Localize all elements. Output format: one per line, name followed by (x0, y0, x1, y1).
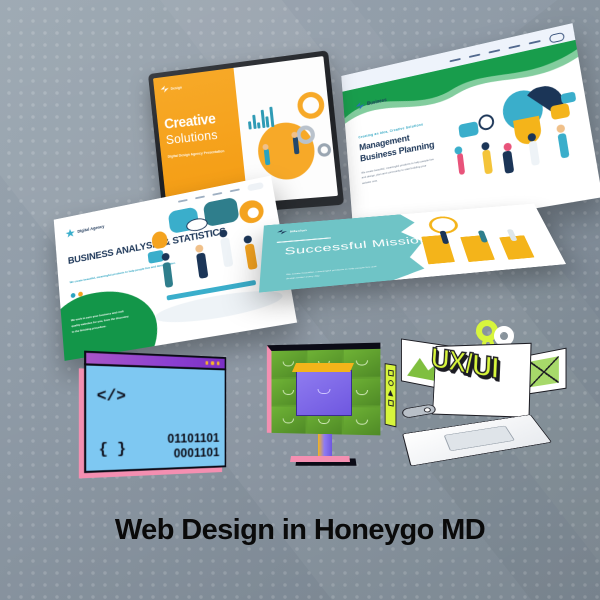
monitor-logo-label: Design (171, 85, 183, 90)
binary-text: 01101101 0001101 (167, 431, 219, 461)
lightbulb-icon (151, 230, 168, 250)
nav-item-about[interactable] (469, 53, 480, 58)
cabinet-stand-foot (295, 458, 356, 465)
clock-icon (477, 113, 494, 131)
nav-item-portfolio[interactable] (508, 44, 520, 49)
person-figure (244, 243, 257, 270)
yellow-card (460, 235, 495, 262)
nav-item-about[interactable] (195, 196, 205, 200)
nav-item-home[interactable] (449, 58, 460, 63)
nav-item-home[interactable] (178, 199, 188, 203)
person-figure (482, 150, 493, 175)
person-figure (196, 252, 208, 278)
creative-body-text: Digital Design Agency Presentation (168, 148, 236, 160)
code-window-illustration: </> { } 01101101 0001101 (84, 356, 234, 474)
tool-square-icon[interactable] (388, 370, 393, 377)
person-head (162, 253, 171, 262)
person-head (243, 235, 252, 244)
code-brace-symbol: { } (99, 441, 126, 459)
mouse-icon[interactable] (401, 404, 437, 419)
tool-palette[interactable] (385, 363, 397, 427)
bird-logo-icon (277, 229, 287, 234)
person-head (503, 142, 512, 151)
code-window-shell: </> { } 01101101 0001101 (84, 353, 226, 478)
window-dot-2[interactable] (211, 361, 214, 364)
code-window-body: </> { } 01101101 0001101 (84, 363, 226, 473)
person-figure (220, 238, 233, 268)
gear-icon (296, 90, 325, 120)
person-figure (528, 141, 540, 166)
gear-icon (317, 143, 332, 158)
person-figure (503, 150, 515, 174)
binary-line-2: 0001101 (167, 446, 219, 462)
nav-item-services[interactable] (212, 192, 222, 196)
code-tag-symbol: </> (97, 387, 126, 406)
cabinet-open-drawer[interactable] (296, 370, 352, 416)
laptop-base (402, 414, 552, 466)
webpage-mockup-management: Business Creating an Idea, Creative Solu… (341, 23, 600, 238)
nav-item-services[interactable] (489, 49, 501, 54)
dot-1[interactable] (71, 293, 76, 299)
decoration-shape (513, 116, 543, 147)
bird-logo-icon (160, 85, 169, 93)
yellow-card (421, 234, 455, 264)
uxui-laptop-illustration: UX/UI (382, 318, 568, 482)
speech-bubble-icon (550, 103, 571, 120)
nav-item-contact[interactable] (529, 40, 541, 45)
bar-chart-icon (247, 104, 274, 129)
tool-square-icon[interactable] (388, 399, 393, 406)
person-figure (456, 152, 464, 175)
laptop-trackpad[interactable] (443, 425, 515, 451)
filing-cabinet-illustration (252, 334, 392, 480)
search-icon[interactable] (549, 31, 565, 43)
person-head (195, 244, 204, 253)
person-figure (163, 261, 174, 287)
green-blob-text: We work to earn your business and craft … (71, 308, 131, 335)
page-title: Web Design in Honeygo MD (0, 514, 600, 547)
speech-bubble-icon (203, 196, 240, 226)
window-dot-3[interactable] (216, 362, 219, 365)
mission-logo-label: Mission (290, 228, 307, 232)
nav-item-contact[interactable] (230, 188, 240, 192)
chart-icon (560, 92, 576, 105)
person-figure (557, 133, 569, 159)
speech-bubble-icon (459, 121, 480, 138)
mission-illustration (408, 204, 566, 278)
illustration-stage: Business Creating an Idea, Creative Solu… (0, 0, 600, 600)
star-logo-icon (65, 228, 75, 238)
monitor-logo: Design (160, 78, 228, 93)
person-head (218, 229, 227, 238)
tool-circle-icon[interactable] (388, 380, 393, 387)
window-dot-1[interactable] (205, 361, 208, 364)
tool-triangle-icon[interactable] (388, 389, 393, 396)
